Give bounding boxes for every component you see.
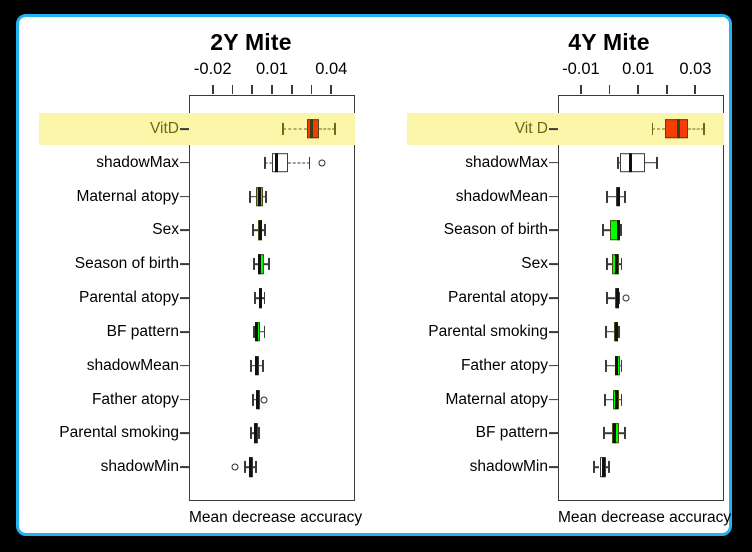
whisker-lower: [606, 331, 614, 333]
boxplot-median: [615, 390, 618, 410]
whisker-cap-upper: [618, 326, 620, 338]
whisker-cap-upper: [264, 224, 266, 236]
y-axis-tick: [549, 466, 558, 468]
y-axis-tick: [549, 432, 558, 434]
boxplot-median: [259, 221, 262, 241]
y-axis-tick: [549, 331, 558, 333]
boxplot-median: [255, 356, 258, 376]
x-axis-tick: [666, 85, 668, 94]
row-label-vitd: VitD: [150, 120, 179, 138]
row-label-vit-d: Vit D: [515, 120, 548, 138]
row-label-father-atopy: Father atopy: [92, 391, 179, 409]
whisker-cap-lower: [606, 292, 608, 304]
whisker-cap-lower: [252, 393, 254, 405]
row-label-parental-smoking: Parental smoking: [428, 323, 548, 341]
row-label-shadowmin: shadowMin: [101, 458, 179, 476]
boxplot-outlier: [261, 396, 268, 403]
boxplot-median: [275, 153, 278, 173]
y-axis-tick: [180, 432, 189, 434]
boxplot-median: [677, 119, 680, 139]
x-axis-tick: [251, 85, 253, 94]
whisker-cap-lower: [250, 360, 252, 372]
x-axis-tick: [580, 85, 582, 94]
whisker-cap-upper: [624, 427, 626, 439]
boxplot-median: [310, 119, 313, 139]
row-label-father-atopy: Father atopy: [461, 357, 548, 375]
x-axis-tick: [232, 85, 234, 94]
whisker-cap-lower: [593, 461, 595, 473]
whisker-upper: [688, 128, 704, 129]
whisker-lower: [607, 196, 616, 198]
row-label-maternal-atopy: Maternal atopy: [76, 188, 179, 206]
x-axis-tick: [271, 85, 273, 94]
whisker-lower: [283, 128, 307, 129]
whisker-cap-lower: [244, 461, 246, 473]
x-axis-tick-label: 0.03: [679, 60, 711, 79]
whisker-cap-upper: [334, 123, 336, 135]
whisker-cap-upper: [608, 461, 610, 473]
boxplot-median: [615, 322, 618, 342]
y-axis-tick: [180, 331, 189, 333]
y-axis-tick: [180, 229, 189, 231]
row-label-shadowmax: shadowMax: [96, 154, 179, 172]
row-label-season-of-birth: Season of birth: [444, 221, 548, 239]
row-label-shadowmin: shadowMin: [470, 458, 548, 476]
whisker-cap-lower: [252, 224, 254, 236]
whisker-cap-upper: [656, 157, 658, 169]
whisker-cap-lower: [605, 326, 607, 338]
y-axis-tick: [180, 466, 189, 468]
y-axis-tick: [549, 297, 558, 299]
y-axis-tick: [549, 128, 558, 130]
whisker-cap-lower: [603, 427, 605, 439]
whisker-cap-upper: [309, 157, 311, 169]
y-axis-tick: [549, 196, 558, 198]
whisker-cap-lower: [253, 258, 255, 270]
whisker-cap-upper: [265, 190, 267, 202]
whisker-upper: [288, 162, 310, 163]
row-label-bf-pattern: BF pattern: [107, 323, 179, 341]
y-axis-tick: [180, 297, 189, 299]
boxplot-median: [258, 254, 261, 274]
boxplot-median: [615, 356, 618, 376]
whisker-cap-lower: [249, 190, 251, 202]
y-axis-tick: [180, 162, 189, 164]
whisker-cap-lower: [250, 427, 252, 439]
panel-4y-mite: 4Y Mite -0.010.010.03Mean decrease accur…: [377, 17, 735, 533]
boxplot-median: [255, 322, 258, 342]
y-axis-tick: [549, 263, 558, 265]
boxplot-median: [258, 187, 261, 207]
whisker-cap-upper: [268, 258, 270, 270]
whisker-lower: [605, 399, 613, 401]
row-label-parental-smoking: Parental smoking: [59, 424, 179, 442]
panel-2y-mite: 2Y Mite -0.020.010.04Mean decrease accur…: [19, 17, 377, 533]
y-axis-tick: [180, 365, 189, 367]
whisker-lower: [265, 162, 272, 163]
row-label-parental-atopy: Parental atopy: [448, 289, 548, 307]
x-axis-tick: [694, 85, 696, 94]
x-axis-tick-label: 0.04: [315, 60, 347, 79]
x-axis-tick: [311, 85, 313, 94]
y-axis-tick: [549, 162, 558, 164]
whisker-cap-lower: [605, 360, 607, 372]
row-label-bf-pattern: BF pattern: [476, 424, 548, 442]
x-axis-title: Mean decrease accuracy: [558, 509, 724, 527]
boxplot-outlier: [232, 464, 239, 471]
whisker-lower: [652, 128, 665, 129]
boxplot-median: [615, 254, 618, 274]
whisker-cap-upper: [258, 427, 260, 439]
x-axis-tick: [291, 85, 293, 94]
row-label-sex: Sex: [521, 255, 548, 273]
x-axis-tick-label: -0.02: [194, 60, 232, 79]
boxplot-median: [259, 288, 262, 308]
boxplot-median: [613, 424, 616, 444]
row-label-shadowmean: shadowMean: [87, 357, 179, 375]
whisker-cap-upper: [262, 360, 264, 372]
boxplot-outlier: [623, 295, 630, 302]
y-axis-tick: [180, 399, 189, 401]
boxplot-median: [616, 288, 619, 308]
row-label-parental-atopy: Parental atopy: [79, 289, 179, 307]
x-axis-tick-label: 0.01: [622, 60, 654, 79]
y-axis-tick: [549, 365, 558, 367]
panel-title: 4Y Mite: [430, 29, 752, 56]
whisker-cap-lower: [602, 224, 604, 236]
whisker-cap-lower: [254, 292, 256, 304]
row-label-season-of-birth: Season of birth: [75, 255, 179, 273]
whisker-cap-upper: [703, 123, 705, 135]
whisker-cap-upper: [621, 258, 623, 270]
whisker-upper: [319, 128, 335, 129]
whisker-lower: [606, 365, 615, 367]
whisker-cap-lower: [606, 258, 608, 270]
whisker-cap-upper: [264, 326, 266, 338]
x-axis-tick: [212, 85, 214, 94]
y-axis-tick: [180, 196, 189, 198]
boxplot-outlier: [319, 159, 326, 166]
whisker-lower: [604, 433, 612, 435]
whisker-cap-upper: [264, 292, 266, 304]
x-axis-tick: [637, 85, 639, 94]
boxplot-median: [602, 457, 605, 477]
y-axis-tick: [180, 128, 189, 130]
x-axis-title: Mean decrease accuracy: [189, 509, 355, 527]
whisker-cap-upper: [255, 461, 257, 473]
boxplot-median: [249, 457, 252, 477]
y-axis-tick: [180, 263, 189, 265]
x-axis-tick: [330, 85, 332, 94]
row-label-shadowmean: shadowMean: [456, 188, 548, 206]
row-label-shadowmax: shadowMax: [465, 154, 548, 172]
x-axis-tick-label: 0.01: [256, 60, 288, 79]
whisker-cap-lower: [282, 123, 284, 135]
whisker-cap-upper: [621, 360, 623, 372]
boxplot-median: [629, 153, 632, 173]
x-axis-tick-label: -0.01: [562, 60, 600, 79]
row-label-sex: Sex: [152, 221, 179, 239]
x-axis-tick: [609, 85, 611, 94]
row-label-maternal-atopy: Maternal atopy: [445, 391, 548, 409]
figure-card: 2Y Mite -0.020.010.04Mean decrease accur…: [16, 14, 732, 536]
boxplot-median: [256, 390, 259, 410]
whisker-cap-lower: [264, 157, 266, 169]
whisker-cap-upper: [624, 190, 626, 202]
whisker-cap-upper: [621, 393, 623, 405]
y-axis-tick: [549, 399, 558, 401]
whisker-cap-lower: [606, 190, 608, 202]
whisker-cap-lower: [652, 123, 654, 135]
y-axis-tick: [549, 229, 558, 231]
whisker-lower: [607, 297, 615, 299]
boxplot-median: [254, 424, 257, 444]
boxplot-median: [617, 187, 620, 207]
boxplot-median: [617, 221, 620, 241]
whisker-cap-lower: [604, 393, 606, 405]
